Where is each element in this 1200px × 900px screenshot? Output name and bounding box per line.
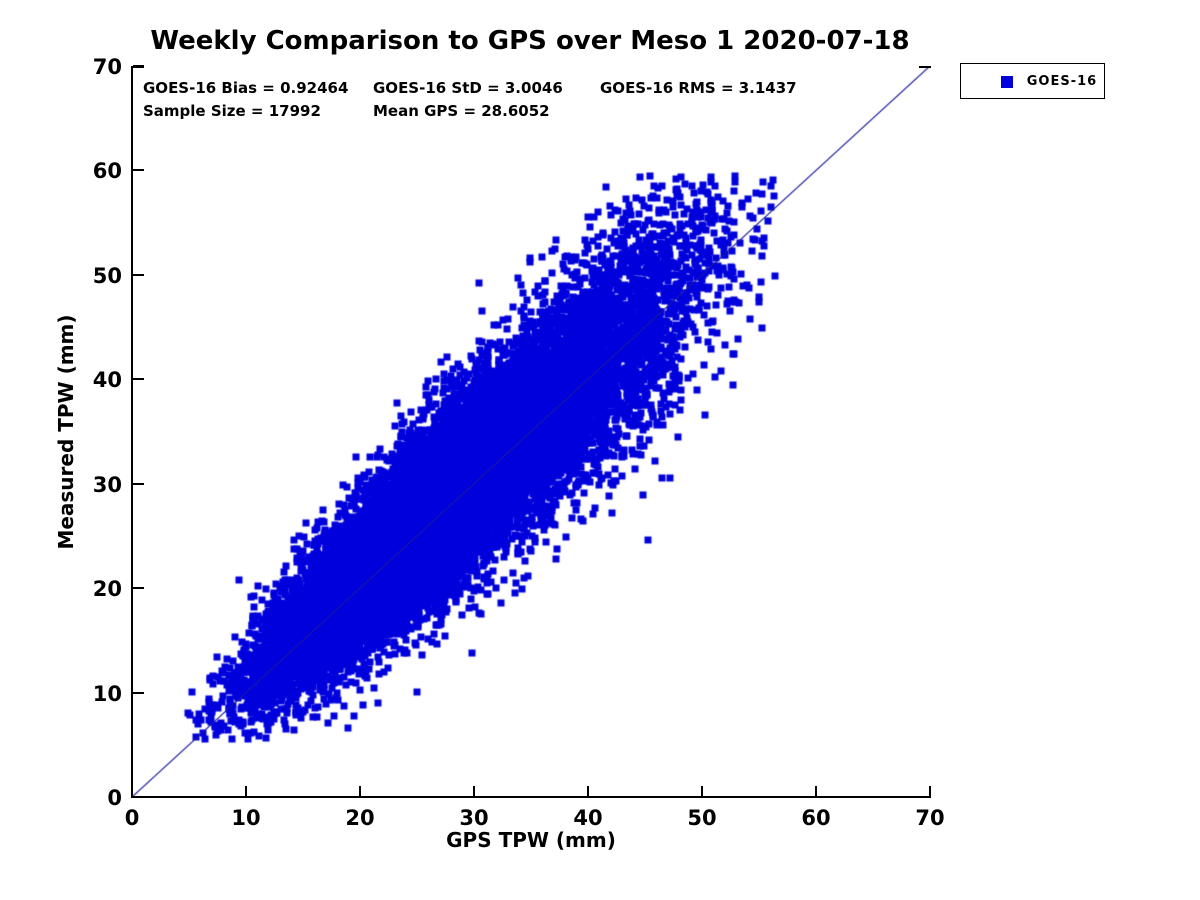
y-axis-title: Measured TPW (mm) xyxy=(54,66,78,798)
x-tick-label-50: 50 xyxy=(672,806,732,830)
x-tick-label-60: 60 xyxy=(786,806,846,830)
page-title: Weekly Comparison to GPS over Meso 1 202… xyxy=(0,26,1060,56)
y-tick-30 xyxy=(133,483,144,485)
legend-label-goes16: GOES-16 xyxy=(1023,74,1101,89)
x-axis-title: GPS TPW (mm) xyxy=(131,828,931,852)
x-tick-label-30: 30 xyxy=(444,806,504,830)
y-tick-70 xyxy=(133,65,144,67)
x-tick-label-20: 20 xyxy=(330,806,390,830)
legend-swatch-goes16 xyxy=(1001,76,1013,88)
stat-rms: GOES-16 RMS = 3.1437 xyxy=(600,79,797,97)
stat-bias: GOES-16 Bias = 0.92464 xyxy=(143,79,348,97)
x-tick-10 xyxy=(245,786,247,797)
chart-figure: Weekly Comparison to GPS over Meso 1 202… xyxy=(0,0,1200,900)
y-axis-line xyxy=(131,66,133,798)
axis-corner-top-right xyxy=(919,66,931,68)
stat-mean-gps: Mean GPS = 28.6052 xyxy=(373,102,550,120)
x-tick-50 xyxy=(701,786,703,797)
x-tick-label-40: 40 xyxy=(558,806,618,830)
y-tick-60 xyxy=(133,169,144,171)
y-tick-10 xyxy=(133,692,144,694)
x-tick-0 xyxy=(131,786,133,797)
y-tick-20 xyxy=(133,587,144,589)
stat-std: GOES-16 StD = 3.0046 xyxy=(373,79,563,97)
legend: GOES-16 xyxy=(960,63,1105,99)
x-axis-line xyxy=(131,796,931,798)
x-tick-label-10: 10 xyxy=(216,806,276,830)
x-tick-60 xyxy=(815,786,817,797)
scatter-plot-canvas xyxy=(132,66,930,797)
x-tick-70 xyxy=(929,786,931,797)
x-tick-label-0: 0 xyxy=(102,806,162,830)
y-tick-50 xyxy=(133,274,144,276)
stat-sample-size: Sample Size = 17992 xyxy=(143,102,321,120)
x-tick-20 xyxy=(359,786,361,797)
x-tick-label-70: 70 xyxy=(900,806,960,830)
x-tick-30 xyxy=(473,786,475,797)
y-tick-0 xyxy=(133,796,144,798)
y-tick-40 xyxy=(133,378,144,380)
x-tick-40 xyxy=(587,786,589,797)
